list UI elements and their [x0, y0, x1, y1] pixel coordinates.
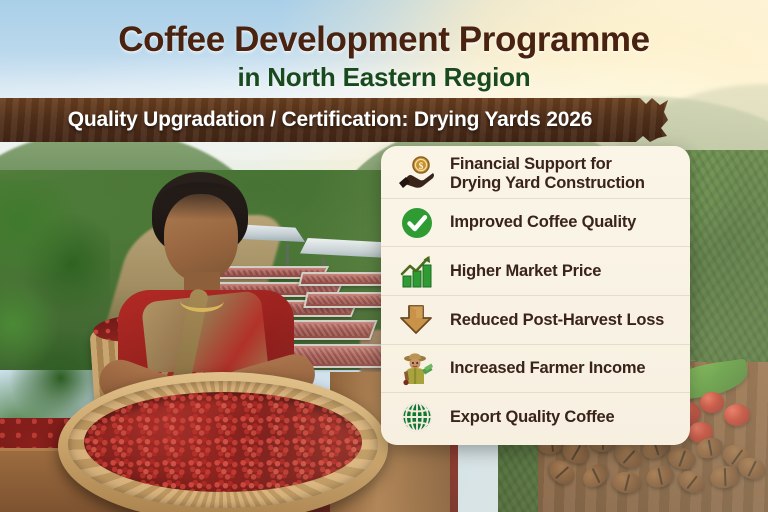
- page-title: Coffee Development Programme: [0, 22, 768, 59]
- benefit-row-reduced-loss: Reduced Post-Harvest Loss: [381, 296, 690, 345]
- benefit-row-export-quality: Export Quality Coffee: [381, 393, 690, 441]
- benefit-row-improved-quality: Improved Coffee Quality: [381, 199, 690, 248]
- woman-hair-front: [158, 182, 244, 220]
- benefit-label: Financial Support for Drying Yard Constr…: [450, 155, 645, 192]
- benefit-label: Increased Farmer Income: [450, 359, 645, 378]
- bamboo-sorting-tray: [58, 372, 388, 512]
- hand-holding-coin-icon: $: [397, 154, 437, 194]
- gold-necklace: [180, 290, 224, 312]
- ribbon-banner: Quality Upgradation / Certification: Dry…: [0, 98, 700, 142]
- benefit-label: Reduced Post-Harvest Loss: [450, 311, 664, 330]
- poster-root: Coffee Development Programme in North Ea…: [0, 0, 768, 512]
- poster-header: Coffee Development Programme in North Ea…: [0, 0, 768, 91]
- farmer-money-icon: [397, 349, 437, 389]
- benefit-label: Improved Coffee Quality: [450, 213, 636, 232]
- benefit-label: Export Quality Coffee: [450, 408, 615, 427]
- arrow-down-icon: [397, 300, 437, 340]
- tray-cherries: [84, 392, 362, 492]
- cherry-texture: [84, 392, 362, 492]
- benefit-row-higher-price: Higher Market Price: [381, 247, 690, 296]
- globe-icon: [397, 397, 437, 437]
- svg-text:$: $: [419, 161, 424, 172]
- benefit-label-line1: Financial Support for: [450, 155, 612, 173]
- benefit-row-farmer-income: Increased Farmer Income: [381, 345, 690, 394]
- benefit-label-line2: Drying Yard Construction: [450, 174, 645, 192]
- benefit-row-financial-support: $ Financial Support for Drying Yard Cons…: [381, 150, 690, 199]
- ribbon-label: Quality Upgradation / Certification: Dry…: [0, 98, 660, 142]
- benefit-label: Higher Market Price: [450, 262, 601, 281]
- benefits-panel: $ Financial Support for Drying Yard Cons…: [381, 146, 690, 445]
- check-circle-icon: [397, 203, 437, 243]
- bar-chart-up-icon: [397, 251, 437, 291]
- coffee-cherry-6: [724, 404, 750, 426]
- coffee-cherry-5: [700, 392, 724, 413]
- page-subtitle: in North Eastern Region: [0, 64, 768, 91]
